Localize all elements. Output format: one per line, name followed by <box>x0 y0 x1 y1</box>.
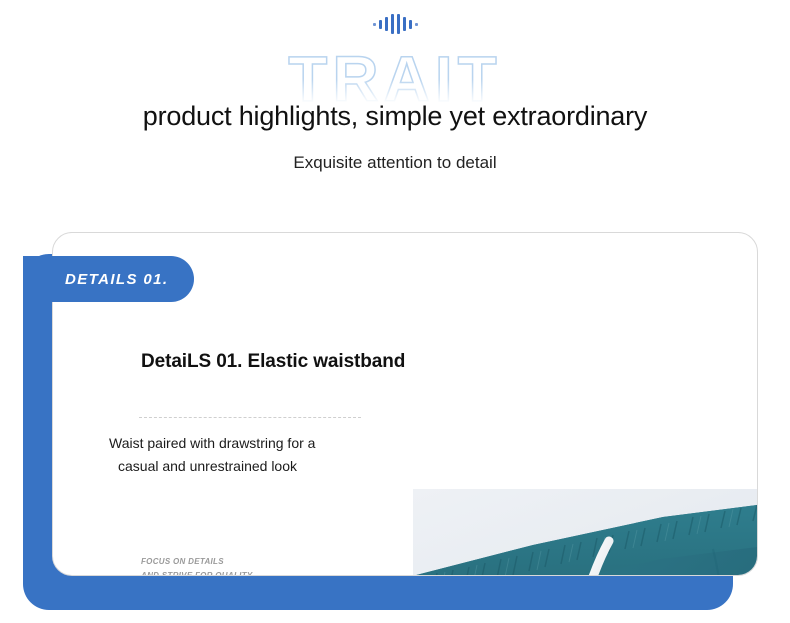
page-header: TRAIT product highlights, simple yet ext… <box>0 0 790 200</box>
page-subtitle: Exquisite attention to detail <box>0 153 790 173</box>
details-badge: DETAILS 01. <box>23 256 194 302</box>
detail-text-column: DetaiLS 01. Elastic waistband Waist pair… <box>109 351 409 477</box>
page-title: product highlights, simple yet extraordi… <box>0 101 790 132</box>
detail-body-line-1: Waist paired with drawstring for a <box>109 432 409 455</box>
footnote-line-2: AND STRIVE FOR QUALITY <box>141 569 253 576</box>
product-photo <box>413 489 758 576</box>
audio-waveform-icon <box>0 13 790 35</box>
detail-section: DetaiLS 01. Elastic waistband Waist pair… <box>0 200 790 623</box>
detail-card-title: DetaiLS 01. Elastic waistband <box>141 351 409 373</box>
details-badge-label: DETAILS 01. <box>65 271 168 288</box>
detail-body-line-2: casual and unrestrained look <box>118 455 409 478</box>
detail-footnote: FOCUS ON DETAILS AND STRIVE FOR QUALITY <box>141 555 253 576</box>
footnote-line-1: FOCUS ON DETAILS <box>141 555 253 569</box>
product-photo-illustration <box>413 489 758 576</box>
dashed-divider <box>139 417 361 419</box>
